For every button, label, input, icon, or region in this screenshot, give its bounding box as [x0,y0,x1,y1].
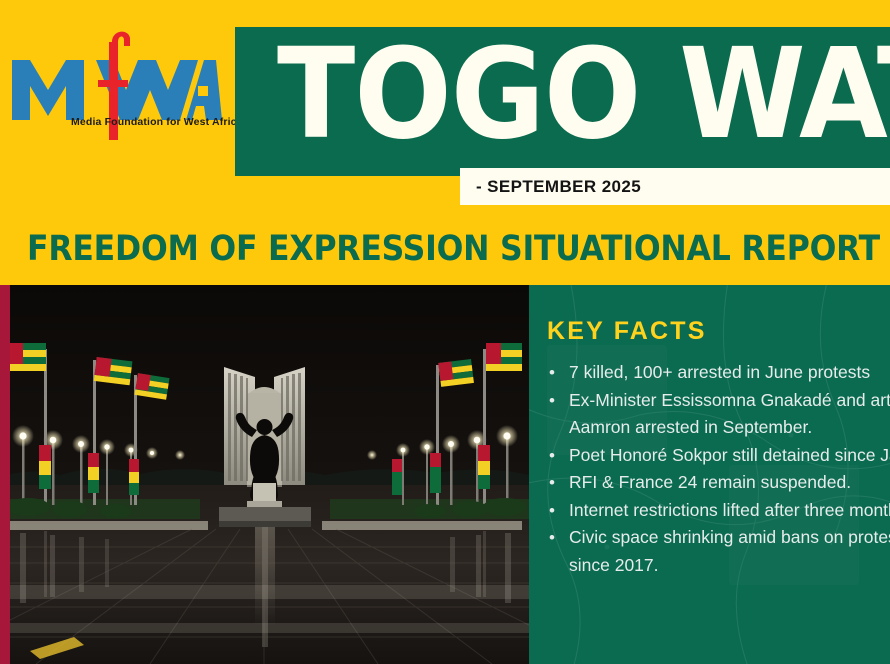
title-block: TOGO WATCH [235,27,890,176]
issue-date: - SEPTEMBER 2025 [476,168,641,205]
hero-photo [0,285,529,664]
content-row: KEY FACTS 7 killed, 100+ arrested in Jun… [0,285,890,664]
date-band: - SEPTEMBER 2025 [460,168,890,205]
report-subtitle: FREEDOM OF EXPRESSION SITUATIONAL REPORT [27,229,880,269]
report-page: Media Foundation for West Africa TOGO WA… [0,0,890,664]
key-facts-panel: KEY FACTS 7 killed, 100+ arrested in Jun… [529,285,890,664]
left-accent-stripe [0,285,10,664]
list-item: Poet Honoré Sokpor still detained since … [569,442,890,470]
key-facts-list: 7 killed, 100+ arrested in June protests… [543,359,890,579]
list-item: Ex-Minister Essissomna Gnakadé and artis… [569,387,890,442]
mfwa-logo: Media Foundation for West Africa [8,28,223,140]
list-item: RFI & France 24 remain suspended. [569,469,890,497]
logo-tagline: Media Foundation for West Africa [71,116,243,128]
header-banner: Media Foundation for West Africa TOGO WA… [0,0,890,285]
list-item: Internet restrictions lifted after three… [569,497,890,525]
list-item: Civic space shrinking amid bans on prote… [569,524,890,579]
key-facts-heading: KEY FACTS [547,317,707,346]
page-title: TOGO WATCH [277,20,890,169]
monument-night-illustration [0,285,529,664]
list-item: 7 killed, 100+ arrested in June protests [569,359,890,387]
